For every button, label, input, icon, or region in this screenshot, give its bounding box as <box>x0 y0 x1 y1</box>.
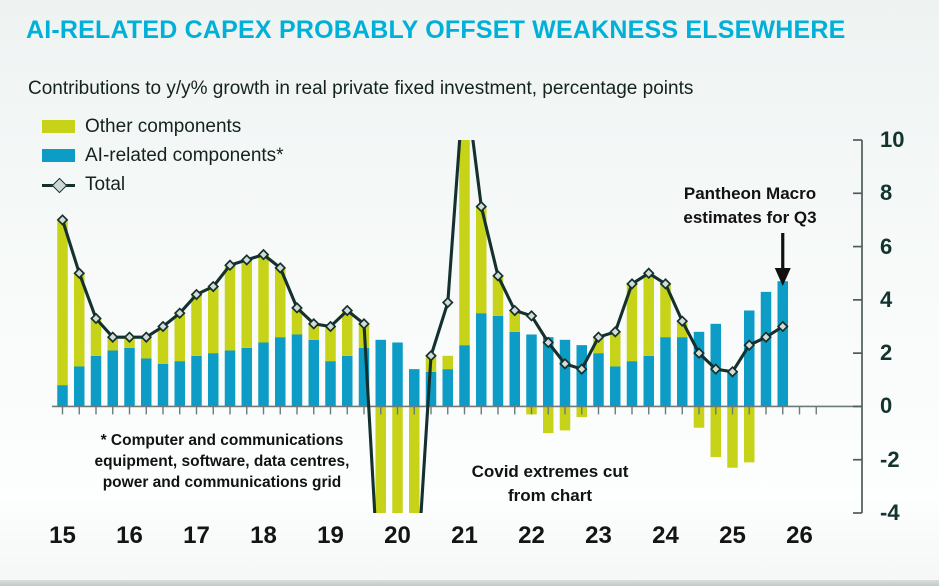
total-line <box>63 73 783 586</box>
bar-segment-other <box>376 406 387 513</box>
y-axis-label: 6 <box>880 234 892 260</box>
x-axis-label: 20 <box>384 522 411 550</box>
bar-segment-ai <box>376 340 387 407</box>
bar-segment-ai <box>309 340 320 407</box>
bar-segment-ai <box>627 361 638 406</box>
bar-segment-ai <box>158 364 169 407</box>
bar-segment-other <box>225 265 236 350</box>
bar-segment-ai <box>761 292 772 407</box>
pantheon-note-text: Pantheon Macro estimates for Q3 <box>660 182 840 230</box>
bar-segment-other <box>727 406 738 467</box>
bar-segment-other <box>258 255 269 343</box>
bar-segment-ai <box>476 313 487 406</box>
bar-segment-ai <box>57 385 68 406</box>
bar-segment-ai <box>225 350 236 406</box>
bar-segment-ai <box>124 348 135 407</box>
bar-segment-ai <box>744 311 755 407</box>
y-axis-label: 0 <box>880 393 892 419</box>
bar-segment-ai <box>208 353 219 406</box>
bar-segment-ai <box>459 345 470 406</box>
bar-segment-other <box>744 406 755 462</box>
total-line-marker <box>443 298 452 307</box>
bar-segment-other <box>175 313 186 361</box>
bar-segment-ai <box>175 361 186 406</box>
chart-page: AI-RELATED CAPEX PROBABLY OFFSET WEAKNES… <box>0 0 939 586</box>
y-axis-label: -2 <box>880 447 900 473</box>
y-axis-label: -4 <box>880 500 900 526</box>
bar-segment-other <box>242 260 253 348</box>
footnote-text: * Computer and communications equipment,… <box>72 430 372 493</box>
pantheon-arrow-head <box>775 268 791 286</box>
bar-segment-ai <box>644 356 655 407</box>
bar-segment-ai <box>409 369 420 406</box>
covid-note-text: Covid extremes cut from chart <box>455 460 645 508</box>
y-axis-label: 10 <box>880 127 904 153</box>
bar-segment-other <box>392 406 403 513</box>
bar-segment-ai <box>292 334 303 406</box>
bar-segment-ai <box>191 356 202 407</box>
x-axis-label: 19 <box>317 522 344 550</box>
x-axis-label: 17 <box>183 522 210 550</box>
bar-segment-other <box>443 356 454 369</box>
bar-segment-other <box>409 406 420 513</box>
bar-segment-other <box>459 140 470 345</box>
bar-segment-ai <box>493 316 504 407</box>
x-axis-label: 21 <box>451 522 478 550</box>
bottom-divider <box>0 580 939 586</box>
bar-segment-ai <box>593 353 604 406</box>
x-axis-label: 16 <box>116 522 143 550</box>
bar-segment-ai <box>778 281 789 406</box>
bar-segment-ai <box>108 350 119 406</box>
bar-segment-other <box>208 287 219 354</box>
x-axis-label: 26 <box>786 522 813 550</box>
x-axis-label: 18 <box>250 522 277 550</box>
bar-segment-ai <box>510 332 521 407</box>
bar-segment-other <box>342 311 353 356</box>
bar-segment-ai <box>610 366 621 406</box>
bar-segment-ai <box>677 337 688 406</box>
bar-segment-ai <box>660 337 671 406</box>
bar-segment-ai <box>577 345 588 406</box>
x-axis-label: 23 <box>585 522 612 550</box>
bar-segment-ai <box>325 361 336 406</box>
bar-segment-ai <box>560 340 571 407</box>
x-axis-label: 24 <box>652 522 679 550</box>
bar-segment-ai <box>443 369 454 406</box>
bar-segment-other <box>191 295 202 356</box>
bar-segment-other <box>57 220 68 385</box>
x-axis-label: 25 <box>719 522 746 550</box>
bar-segment-ai <box>91 356 102 407</box>
y-axis-label: 4 <box>880 287 892 313</box>
bar-segment-ai <box>275 337 286 406</box>
y-axis-label: 8 <box>880 180 892 206</box>
bar-segment-ai <box>392 342 403 406</box>
bar-segment-ai <box>242 348 253 407</box>
x-axis-label: 22 <box>518 522 545 550</box>
bar-segment-ai <box>258 342 269 406</box>
bar-segment-ai <box>74 366 85 406</box>
x-axis-label: 15 <box>49 522 76 550</box>
bar-segment-ai <box>526 334 537 406</box>
bar-segment-ai <box>141 358 152 406</box>
bar-segment-ai <box>342 356 353 407</box>
bar-segment-other <box>644 273 655 356</box>
y-axis-label: 2 <box>880 340 892 366</box>
